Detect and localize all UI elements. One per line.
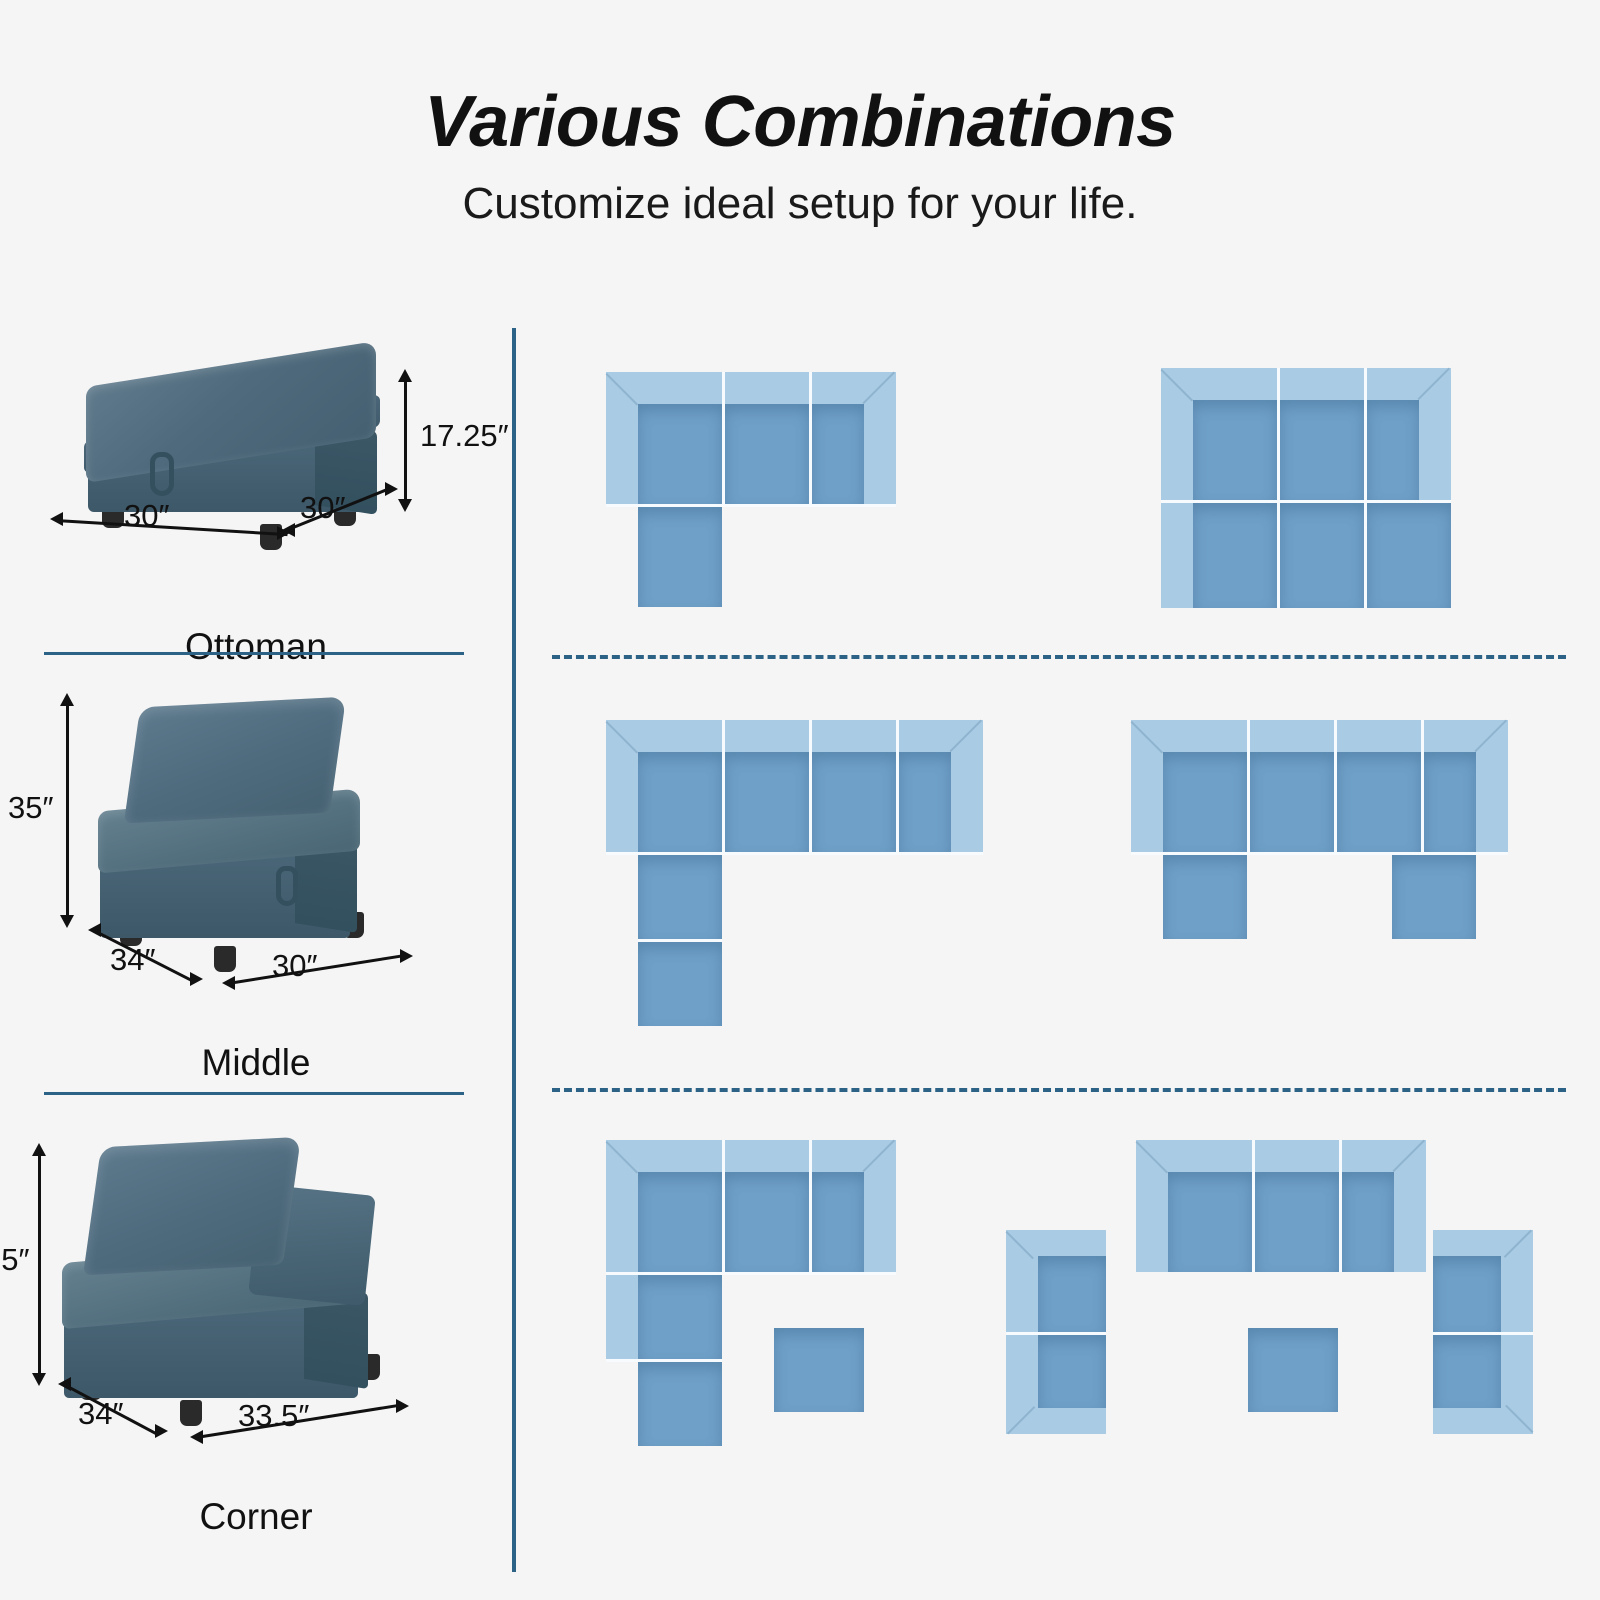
dim-arrow-left (222, 976, 235, 990)
module-seam (1161, 500, 1451, 503)
module-seam (1364, 368, 1367, 608)
seat-module (1280, 400, 1364, 500)
arm-right (951, 720, 983, 852)
arm-back (1136, 1140, 1426, 1172)
arm-back (606, 720, 983, 752)
dim-ottoman-width: 30″ (124, 498, 169, 534)
seat-module (638, 752, 722, 852)
module-seam (606, 852, 983, 855)
dim-arrow-down (60, 915, 74, 928)
dim-ottoman-height: 17.25″ (420, 418, 509, 454)
dim-line-corner-height (38, 1154, 41, 1374)
corner-back-cushion (83, 1137, 301, 1275)
module-seam (1433, 1332, 1533, 1335)
configuration-l-with-ottoman[interactable] (606, 1140, 936, 1460)
seat-module (1255, 1172, 1339, 1272)
module-card-corner: 35″ 34″ 33.5″ Corner (0, 1124, 512, 1554)
header: Various Combinations Customize ideal set… (0, 0, 1600, 229)
module-seam (1252, 1140, 1255, 1272)
middle-back-cushion (124, 697, 346, 824)
dim-arrow-right (385, 482, 398, 496)
dim-arrow-right (396, 1399, 409, 1413)
seat-module (1367, 503, 1451, 608)
seat-module-chaise (638, 855, 722, 939)
dim-ottoman-depth: 30″ (300, 490, 345, 526)
configurations-column (516, 300, 1600, 1600)
ottoman-illustration: 17.25″ 30″ 30″ (0, 336, 512, 586)
arm-left (606, 372, 638, 504)
seat-module-chaise (638, 942, 722, 1026)
middle-leg (214, 946, 236, 972)
seat-module (1433, 1256, 1501, 1332)
arm-left (606, 720, 638, 852)
seat-module (1433, 1335, 1501, 1408)
arm-back (1161, 368, 1451, 400)
dim-middle-depth: 34″ (110, 942, 155, 978)
module-seam (1339, 1140, 1342, 1272)
module-seam (722, 372, 725, 504)
dim-line-ottoman-height (404, 380, 407, 500)
seat-module (1193, 400, 1277, 500)
module-card-ottoman: 17.25″ 30″ 30″ Ottoman (0, 336, 512, 666)
arm-left (1136, 1140, 1168, 1272)
module-seam (1131, 852, 1508, 855)
dim-arrow-left (190, 1430, 203, 1444)
seat-module-chaise (638, 1275, 722, 1359)
module-seam (1334, 720, 1337, 852)
seat-module (638, 1172, 722, 1272)
middle-illustration: 35″ 34″ 30″ (0, 680, 512, 1020)
module-label-corner: Corner (0, 1496, 512, 1538)
configuration-rectangular-sleeper[interactable] (1161, 368, 1481, 628)
arm-back (606, 372, 896, 404)
seat-module (725, 1172, 809, 1272)
dim-arrow-left (282, 523, 295, 537)
dim-line-middle-height (66, 704, 69, 916)
main-content: 17.25″ 30″ 30″ Ottoman (0, 300, 1600, 1600)
module-seam (1421, 720, 1424, 852)
module-seam (1277, 368, 1280, 608)
module-seam (809, 372, 812, 504)
dim-corner-depth: 34″ (78, 1396, 123, 1432)
seat-module (1168, 1172, 1252, 1272)
arm-right (1419, 368, 1451, 500)
dim-middle-height: 35″ (8, 790, 53, 826)
seat-module (1038, 1335, 1106, 1408)
seat-module (1337, 752, 1421, 852)
seat-module (1424, 752, 1476, 852)
module-seam (606, 504, 896, 507)
seat-module-chaise (638, 507, 722, 607)
dim-corner-width: 33.5″ (238, 1398, 309, 1434)
module-label-ottoman: Ottoman (0, 626, 512, 668)
seat-module (1342, 1172, 1394, 1272)
configuration-conversation-set[interactable] (1006, 1140, 1566, 1460)
arm-bottom (1433, 1408, 1533, 1434)
arm-left (1131, 720, 1163, 852)
dim-arrow-right (190, 972, 203, 986)
seat-module (899, 752, 951, 852)
seat-module-chaise (638, 1362, 722, 1446)
module-seam (809, 1140, 812, 1272)
configuration-u-sectional[interactable] (1131, 720, 1531, 970)
dim-arrow-right (400, 949, 413, 963)
module-seam (809, 720, 812, 852)
seat-module (1280, 503, 1364, 608)
module-label-middle: Middle (0, 1042, 512, 1084)
seat-module (1367, 400, 1419, 500)
configuration-row-divider (552, 655, 1566, 659)
module-seam (606, 1272, 896, 1275)
seat-module (812, 1172, 864, 1272)
arm-top (1006, 1230, 1106, 1256)
configuration-row-divider (552, 1088, 1566, 1092)
module-seam (722, 720, 725, 852)
arm-right (1476, 720, 1508, 852)
module-card-middle: 35″ 34″ 30″ Middle (0, 680, 512, 1100)
page-title: Various Combinations (0, 86, 1600, 159)
module-seam (1247, 720, 1250, 852)
corner-leg (180, 1400, 202, 1426)
seat-module (638, 404, 722, 504)
seat-module (1193, 503, 1277, 608)
seat-module (1163, 752, 1247, 852)
module-divider-rule (44, 1092, 464, 1095)
dim-arrow-left (88, 923, 101, 937)
seat-module (812, 752, 896, 852)
arm-left (606, 1140, 638, 1362)
dim-corner-height: 35″ (0, 1242, 29, 1278)
module-seam (722, 1140, 725, 1272)
dim-arrow-up (32, 1143, 46, 1156)
arm-right (864, 372, 896, 504)
configuration-l-sectional-long[interactable] (606, 720, 1006, 1040)
dim-middle-width: 30″ (272, 948, 317, 984)
module-seam (1006, 1332, 1106, 1335)
seat-module (725, 752, 809, 852)
seat-module (725, 404, 809, 504)
middle-pull-strap (276, 866, 298, 906)
page-subtitle: Customize ideal setup for your life. (0, 179, 1600, 229)
module-divider-rule (44, 652, 464, 655)
ottoman-module (1248, 1328, 1338, 1412)
dim-arrow-left (58, 1377, 71, 1391)
dim-arrow-left (50, 512, 63, 526)
module-legend-column: 17.25″ 30″ 30″ Ottoman (0, 300, 512, 1600)
dim-arrow-down (398, 499, 412, 512)
seat-module (812, 404, 864, 504)
arm-right (864, 1140, 896, 1272)
module-seam (606, 1359, 722, 1362)
corner-illustration: 35″ 34″ 33.5″ (0, 1124, 512, 1472)
seat-module (1250, 752, 1334, 852)
seat-module-chaise (1163, 855, 1247, 939)
module-seam (896, 720, 899, 852)
seat-module-chaise (1392, 855, 1476, 939)
module-seam (638, 939, 722, 942)
dim-arrow-up (60, 693, 74, 706)
arm-back (1131, 720, 1508, 752)
arm-left (1161, 368, 1193, 608)
dim-arrow-right (155, 1424, 168, 1438)
arm-back (606, 1140, 896, 1172)
ottoman-module (774, 1328, 864, 1412)
configuration-l-sectional[interactable] (606, 372, 926, 632)
seat-module (1038, 1256, 1106, 1332)
dim-arrow-down (32, 1373, 46, 1386)
ottoman-pull-strap (150, 452, 174, 496)
dim-arrow-up (398, 369, 412, 382)
arm-right (1394, 1140, 1426, 1272)
